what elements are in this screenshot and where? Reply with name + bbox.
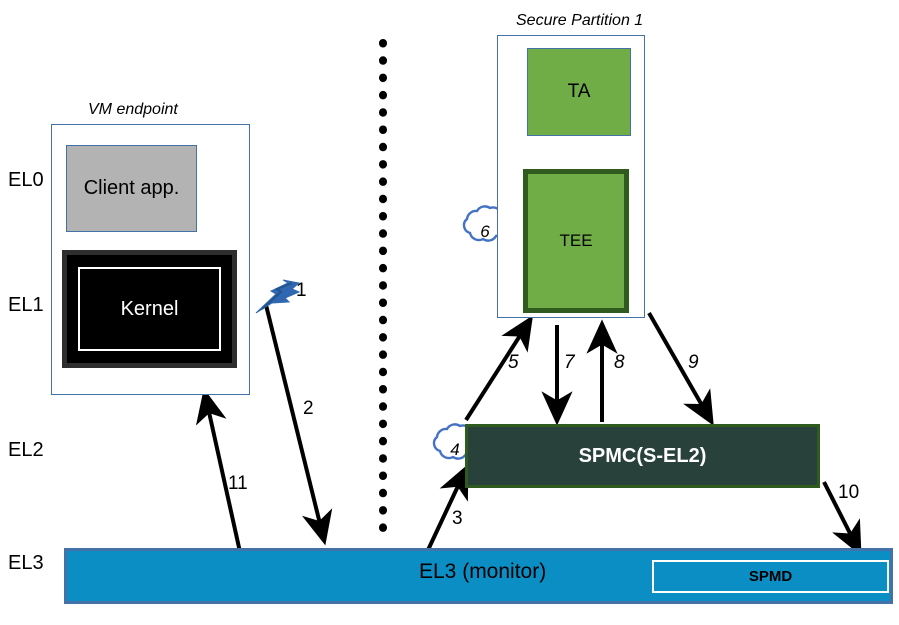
el3-monitor-label: EL3 (monitor) <box>419 560 546 584</box>
step-label-9: 9 <box>688 352 699 374</box>
kernel-box[interactable]: Kernel <box>62 250 237 368</box>
step-label-3: 3 <box>452 508 463 530</box>
step-label-8: 8 <box>614 352 625 374</box>
arrow-step-2 <box>266 305 324 540</box>
lightning-bolt-icon <box>256 280 299 313</box>
step-label-2: 2 <box>303 398 314 420</box>
ta-box[interactable]: TA <box>527 48 631 136</box>
client-app-box[interactable]: Client app. <box>66 145 197 232</box>
level-label-el1: EL1 <box>8 295 44 315</box>
step-label-7: 7 <box>564 352 575 374</box>
step-label-1: 1 <box>296 280 307 302</box>
step-label-6: 6 <box>462 209 508 255</box>
step-label-5: 5 <box>508 352 519 374</box>
step-label-6-wrap: 6 <box>462 209 508 255</box>
kernel-label: Kernel <box>78 267 221 351</box>
step-label-11: 11 <box>228 473 248 495</box>
spmd-box[interactable]: SPMD <box>652 560 889 593</box>
arrow-step-9 <box>649 313 711 421</box>
arrow-step-5 <box>466 320 530 420</box>
step-label-4-wrap: 4 <box>432 427 478 473</box>
step-label-10: 10 <box>838 482 859 504</box>
level-label-el2: EL2 <box>8 440 44 460</box>
step-label-4: 4 <box>432 427 478 473</box>
vm-endpoint-title: VM endpoint <box>88 101 178 119</box>
diagram-canvas: EL0 EL1 EL2 EL3 VM endpoint Client app. … <box>0 0 899 625</box>
level-label-el3: EL3 <box>8 553 44 573</box>
secure-partition-title: Secure Partition 1 <box>516 12 643 30</box>
spmc-box[interactable]: SPMC(S-EL2) <box>465 424 820 488</box>
tee-box[interactable]: TEE <box>523 169 629 313</box>
level-label-el0: EL0 <box>8 170 44 190</box>
